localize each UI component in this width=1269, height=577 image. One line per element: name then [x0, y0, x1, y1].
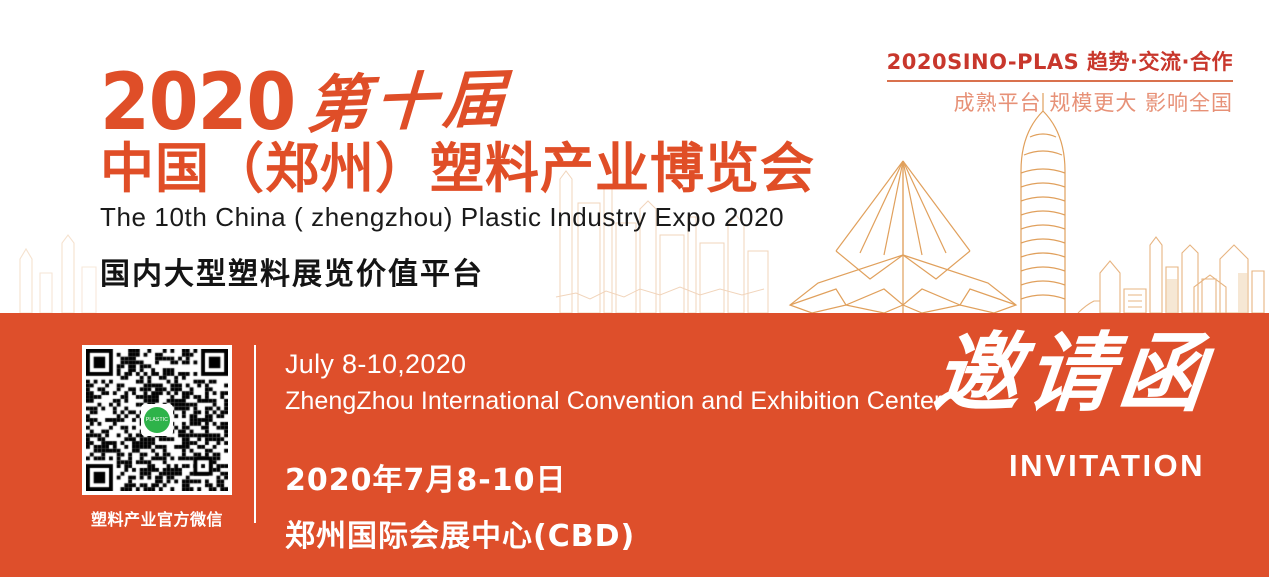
invitation-calligraphy-zh: 邀请函 — [930, 331, 1215, 417]
slogan-line-primary: 2020SINO-PLAS 趋势·交流·合作 — [887, 46, 1233, 76]
event-title-en: The 10th China ( zhengzhou) Plastic Indu… — [100, 202, 815, 233]
slogan-divider — [887, 80, 1233, 82]
event-tagline-zh: 国内大型塑料展览价值平台 — [100, 249, 815, 293]
invitation-block: 邀请函 INVITATION — [937, 323, 1227, 503]
qr-code-icon[interactable]: PLASTIC — [82, 345, 232, 495]
invitation-label-en: INVITATION — [1009, 448, 1205, 484]
qr-caption: 塑料产业官方微信 — [78, 506, 236, 530]
slogan-block: 2020SINO-PLAS 趋势·交流·合作 成熟平台 规模更大 影响全国 — [887, 46, 1233, 117]
event-title-zh: 中国（郑州）塑料产业博览会 — [100, 140, 815, 198]
slogan-line-secondary: 成熟平台 规模更大 影响全国 — [887, 87, 1233, 117]
event-venue-zh: 郑州国际会展中心(CBD) — [285, 511, 942, 555]
invitation-poster: 2020 第十届 中国（郑州）塑料产业博览会 The 10th China ( … — [0, 0, 1269, 577]
vertical-divider — [254, 345, 256, 523]
qr-block: PLASTIC 塑料产业官方微信 — [78, 345, 236, 530]
event-date-zh: 2020年7月8-10日 — [285, 455, 942, 499]
poster-header-section: 2020 第十届 中国（郑州）塑料产业博览会 The 10th China ( … — [0, 0, 1269, 313]
event-year: 2020 — [100, 68, 295, 138]
event-date-en: July 8-10,2020 — [285, 348, 942, 382]
qr-center-logo: PLASTIC — [141, 404, 173, 436]
title-block: 2020 第十届 中国（郑州）塑料产业博览会 The 10th China ( … — [100, 62, 815, 293]
poster-footer-section: PLASTIC 塑料产业官方微信 July 8-10,2020 ZhengZho… — [0, 313, 1269, 577]
event-info-block: July 8-10,2020 ZhengZhou International C… — [285, 348, 942, 555]
calligraphy-art: 邀请函 — [937, 323, 1227, 463]
event-venue-en: ZhengZhou International Convention and E… — [285, 385, 942, 419]
title-year-edition-row: 2020 第十届 — [100, 62, 815, 138]
qr-logo-circle-icon: PLASTIC — [144, 407, 170, 433]
event-edition: 第十届 — [305, 70, 513, 138]
